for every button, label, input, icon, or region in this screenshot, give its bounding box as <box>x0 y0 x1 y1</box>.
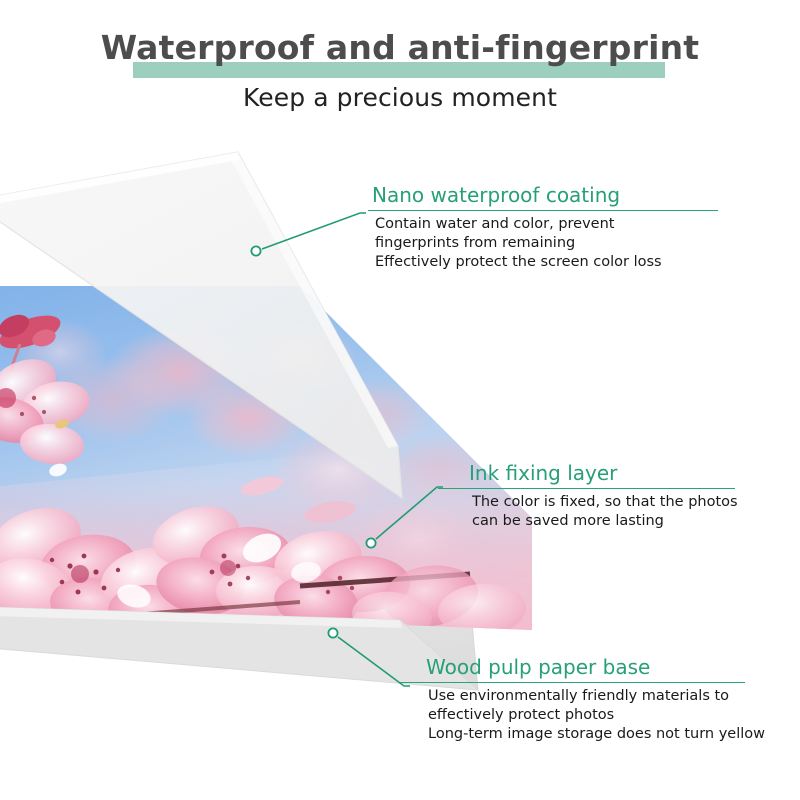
marker-wood <box>328 628 337 637</box>
callout-body: Contain water and color, prevent fingerp… <box>368 215 718 272</box>
header: Waterproof and anti-fingerprint Keep a p… <box>0 0 800 74</box>
callout-heading: Wood pulp paper base <box>400 654 765 680</box>
page-title-text: Waterproof and anti-fingerprint <box>0 26 800 70</box>
callout-ink-fixing-layer: Ink fixing layer The color is fixed, so … <box>438 460 738 531</box>
callout-nano-waterproof-coating: Nano waterproof coating Contain water an… <box>368 182 718 272</box>
callout-body: The color is fixed, so that the photos c… <box>438 493 738 531</box>
marker-ink <box>366 538 375 547</box>
callout-heading: Nano waterproof coating <box>368 182 718 208</box>
callout-wood-pulp-paper-base: Wood pulp paper base Use environmentally… <box>400 654 765 744</box>
callout-rule <box>368 210 718 211</box>
infographic-canvas: Waterproof and anti-fingerprint Keep a p… <box>0 0 800 800</box>
page-subtitle: Keep a precious moment <box>0 82 800 114</box>
callout-rule <box>400 682 745 683</box>
page-title: Waterproof and anti-fingerprint <box>0 26 800 74</box>
callout-rule <box>438 488 735 489</box>
marker-nano <box>251 246 260 255</box>
callout-body: Use environmentally friendly materials t… <box>400 687 765 744</box>
callout-heading: Ink fixing layer <box>438 460 738 486</box>
